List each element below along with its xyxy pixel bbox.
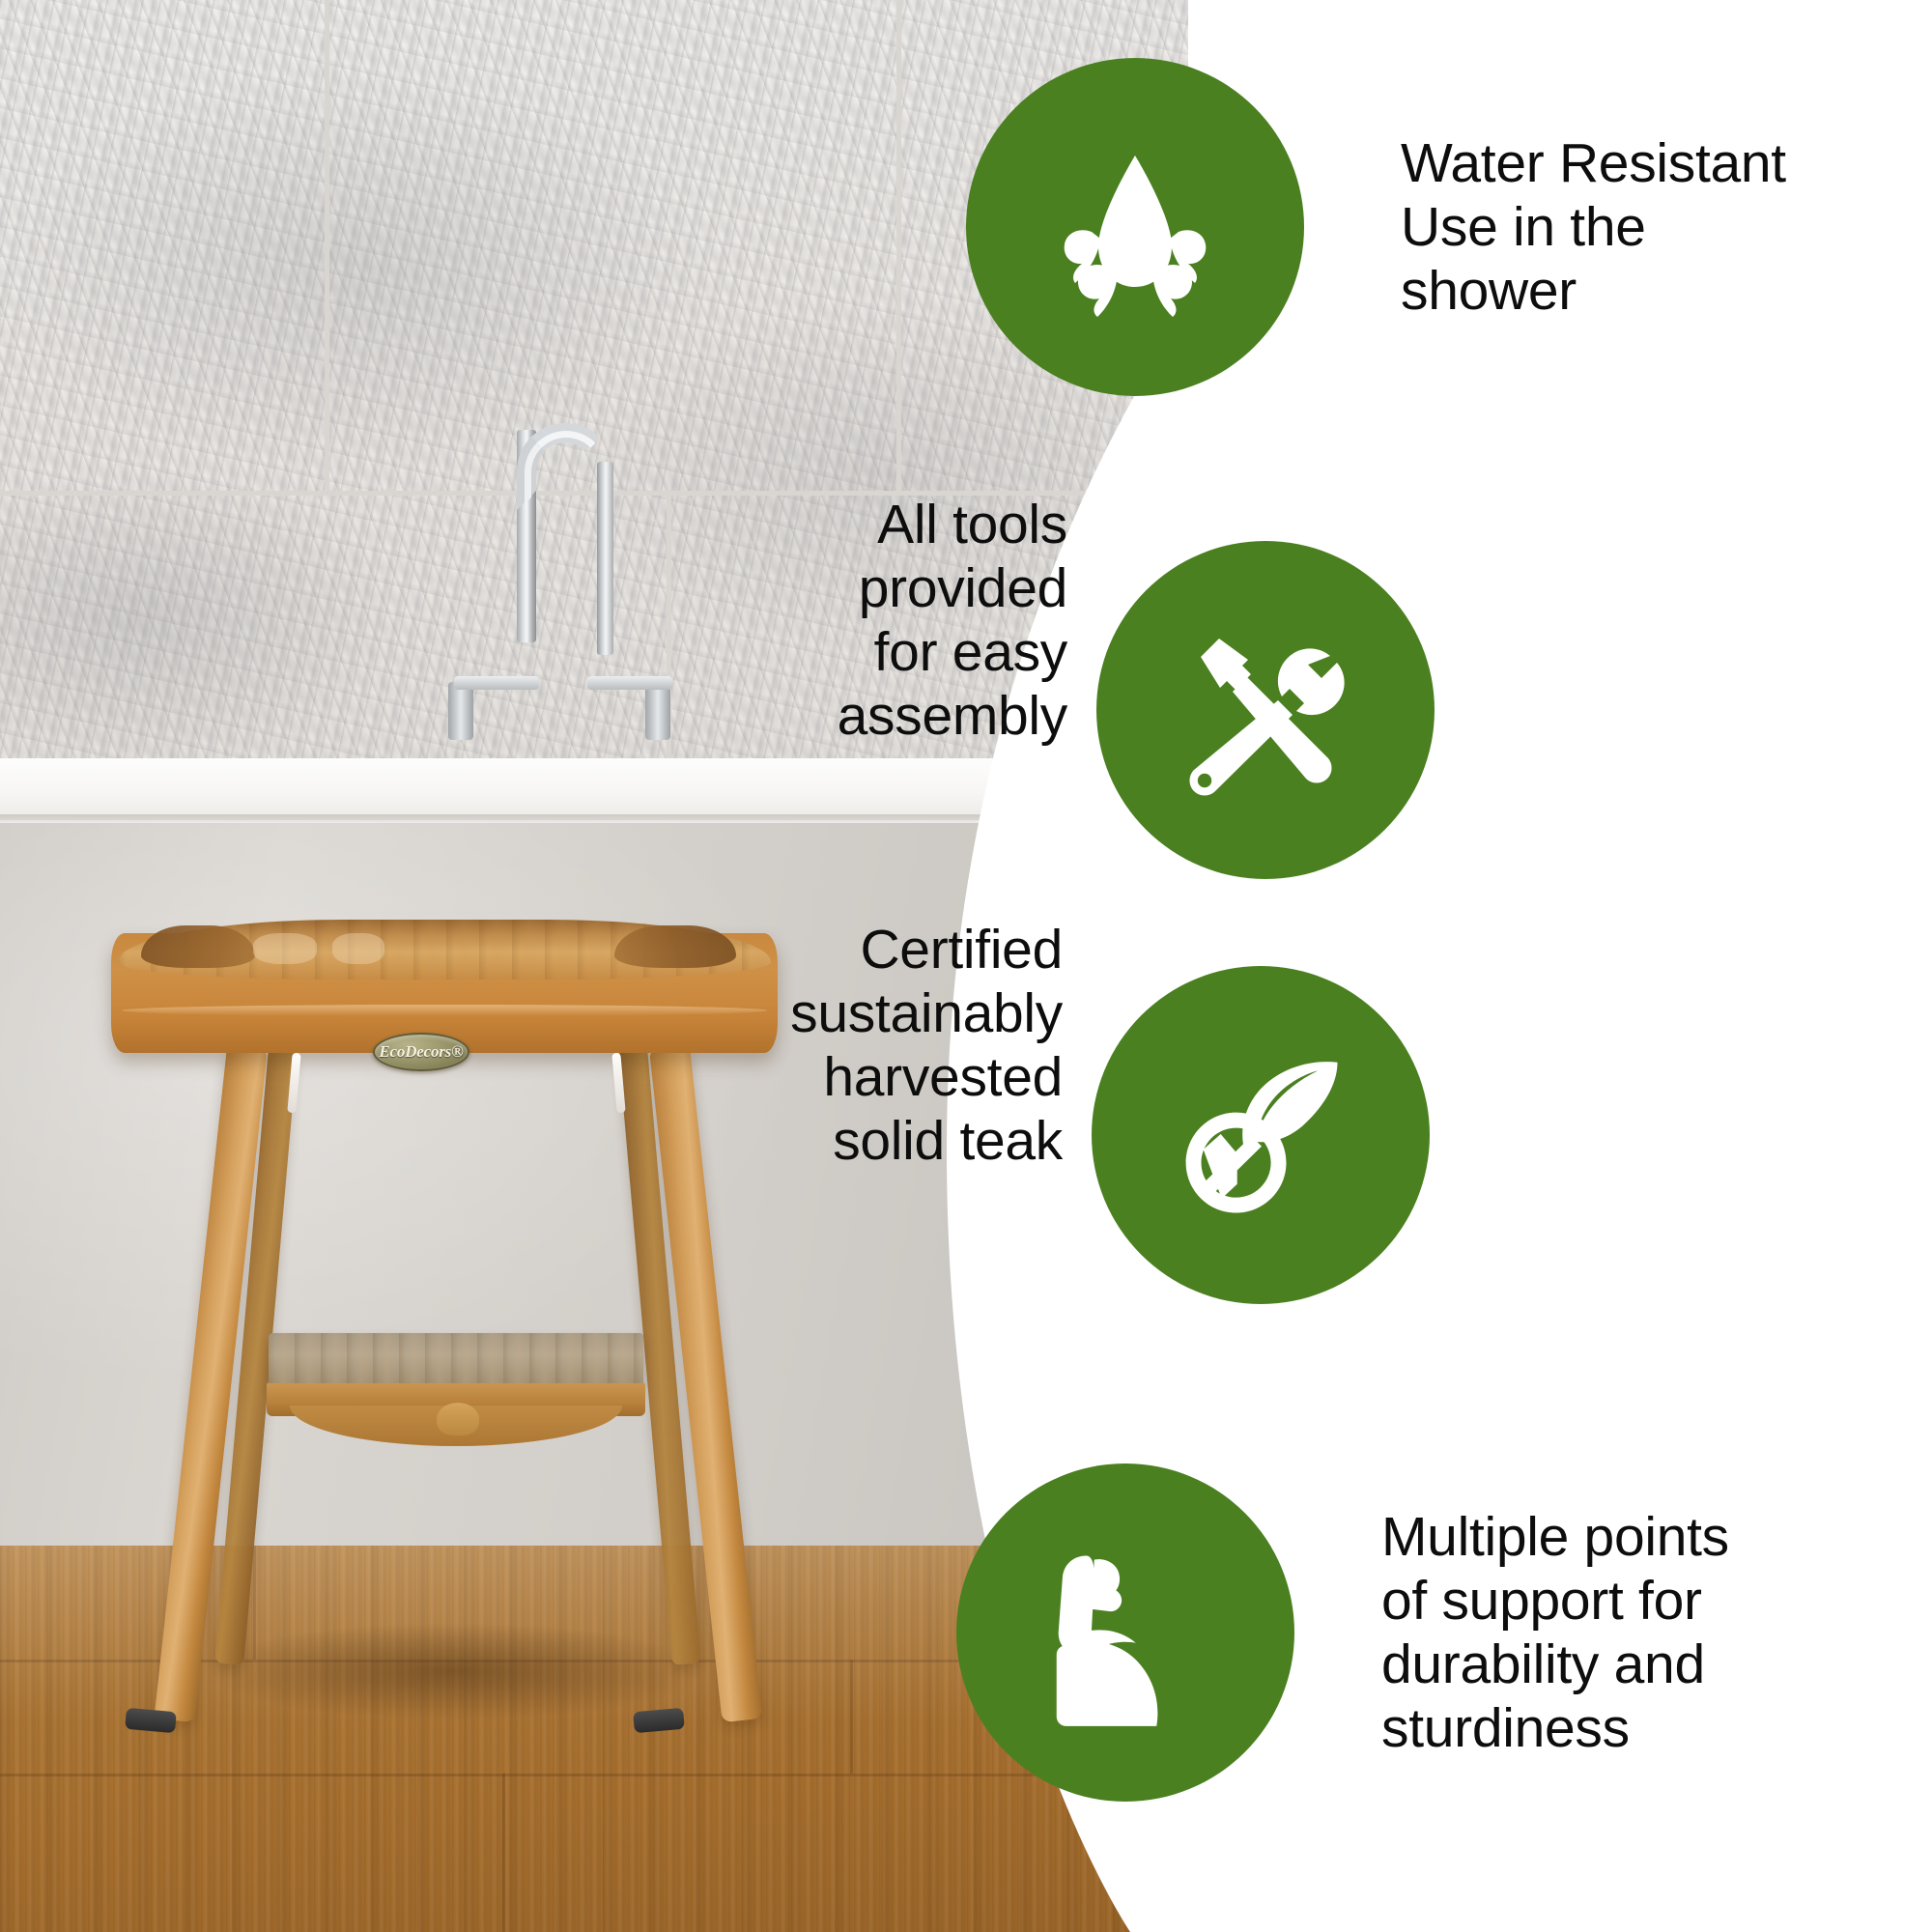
feature-certified-teak: Certified sustainably harvested solid te… [1092,966,1430,1304]
brand-badge-label: EcoDecors® [379,1042,463,1062]
stool-seat-grain-stripe [253,933,317,964]
icon-badge-tools-provided [1096,541,1435,879]
feature-water-resistant: Water Resistant Use in the shower [966,58,1786,396]
stool-shelf [269,1333,643,1387]
feature-multiple-support: Multiple points of support for durabilit… [956,1463,1729,1802]
hammer-wrench-icon [1169,613,1362,807]
feature-tools-provided: All tools provided for easy assembly [1096,541,1435,879]
icon-badge-water-resistant [966,58,1304,396]
feature-tools-provided-text: All tools provided for easy assembly [604,493,1067,748]
stool-foot-right [633,1708,685,1733]
stool-seat-grain-stripe [332,933,384,964]
stool-seat-grain-dark-left [141,925,255,968]
stool-shelf-notch [437,1403,479,1435]
brand-badge: EcoDecors® [373,1033,469,1071]
icon-badge-multiple-support [956,1463,1294,1802]
flexed-bicep-icon [1027,1534,1225,1732]
feature-water-resistant-text: Water Resistant Use in the shower [1401,131,1786,323]
infographic-canvas: EcoDecors® Water Resistant Use in the sh… [0,0,1932,1932]
water-drop-splash-icon [1038,130,1232,324]
icon-badge-certified-teak [1092,966,1430,1304]
stool-foot-left [125,1708,177,1733]
feature-certified-teak-text: Certified sustainably harvested solid te… [589,918,1063,1173]
feature-multiple-support-text: Multiple points of support for durabilit… [1381,1505,1729,1760]
leaf-checkmark-icon [1158,1033,1363,1237]
